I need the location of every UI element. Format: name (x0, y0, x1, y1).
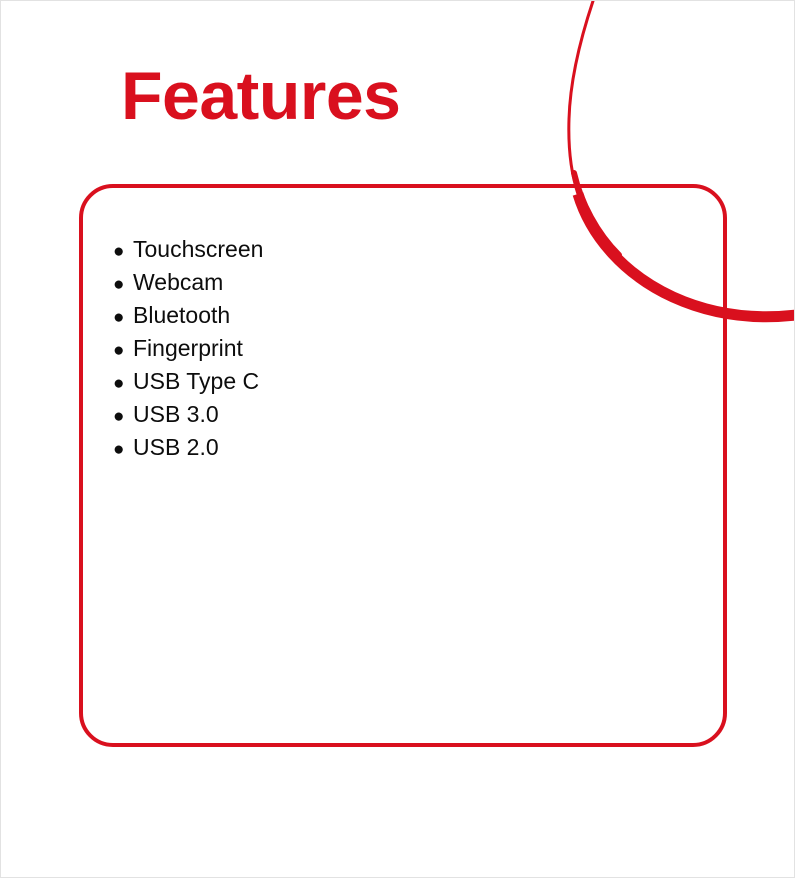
list-item: ●USB 3.0 (113, 399, 263, 432)
bullet-icon: ● (113, 236, 133, 267)
list-item: ●USB Type C (113, 366, 263, 399)
feature-list: ●Touchscreen ●Webcam ●Bluetooth ●Fingerp… (113, 234, 263, 465)
list-item-label: Webcam (133, 269, 223, 295)
red-swoosh-curve-upper (569, 1, 593, 194)
list-item: ●Fingerprint (113, 333, 263, 366)
list-item-label: USB 3.0 (133, 401, 219, 427)
bullet-icon: ● (113, 434, 133, 465)
bullet-icon: ● (113, 368, 133, 399)
slide-canvas: Features ●Touchscreen ●Webcam ●Bluetooth… (0, 0, 795, 878)
list-item-label: Bluetooth (133, 302, 230, 328)
bullet-icon: ● (113, 401, 133, 432)
list-item: ●Touchscreen (113, 234, 263, 267)
list-item-label: Fingerprint (133, 335, 243, 361)
list-item: ●Webcam (113, 267, 263, 300)
list-item: ●USB 2.0 (113, 432, 263, 465)
list-item-label: USB 2.0 (133, 434, 219, 460)
bullet-icon: ● (113, 302, 133, 333)
list-item: ●Bluetooth (113, 300, 263, 333)
list-item-label: Touchscreen (133, 236, 263, 262)
list-item-label: USB Type C (133, 368, 259, 394)
bullet-icon: ● (113, 335, 133, 366)
page-title: Features (121, 59, 400, 133)
bullet-icon: ● (113, 269, 133, 300)
